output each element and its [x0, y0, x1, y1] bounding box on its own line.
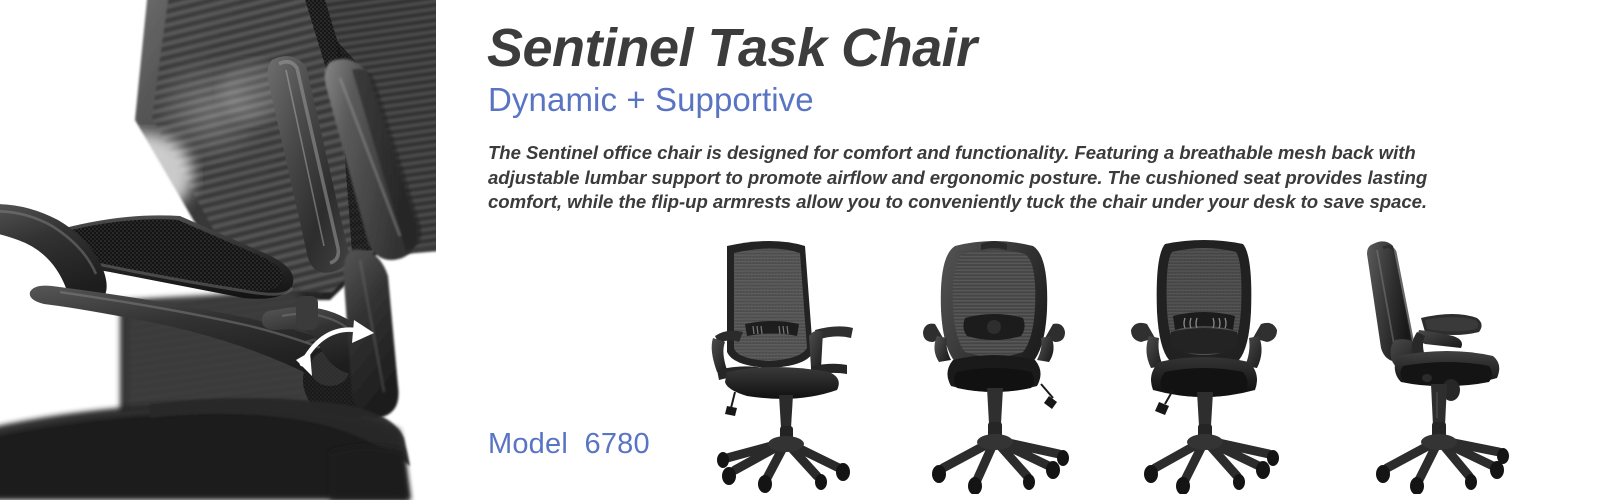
- chair-view-thumbnails: [687, 232, 1517, 494]
- chair-front-three-quarter-view-icon: [687, 232, 877, 494]
- chair-side-profile-view-icon: [1321, 232, 1511, 494]
- thumbnail-chair-rear[interactable]: [899, 232, 1089, 494]
- chair-front-view-icon: [1109, 232, 1299, 494]
- thumbnail-chair-side-profile[interactable]: [1321, 232, 1511, 494]
- thumbnail-chair-front[interactable]: [1109, 232, 1299, 494]
- chair-rear-view-icon: [899, 232, 1089, 494]
- hero-image: [0, 0, 452, 500]
- product-description: The Sentinel office chair is designed fo…: [488, 141, 1500, 215]
- page-title: Sentinel Task Chair: [487, 20, 977, 77]
- armrest-closeup-illustration: [0, 0, 452, 500]
- thumbnail-chair-front-three-quarter[interactable]: [687, 232, 877, 494]
- product-banner: Sentinel Task Chair Dynamic + Supportive…: [0, 0, 1600, 500]
- model-number: Model 6780: [488, 428, 650, 461]
- product-subtitle: Dynamic + Supportive: [488, 81, 814, 119]
- product-info-panel: Sentinel Task Chair Dynamic + Supportive…: [487, 0, 1600, 500]
